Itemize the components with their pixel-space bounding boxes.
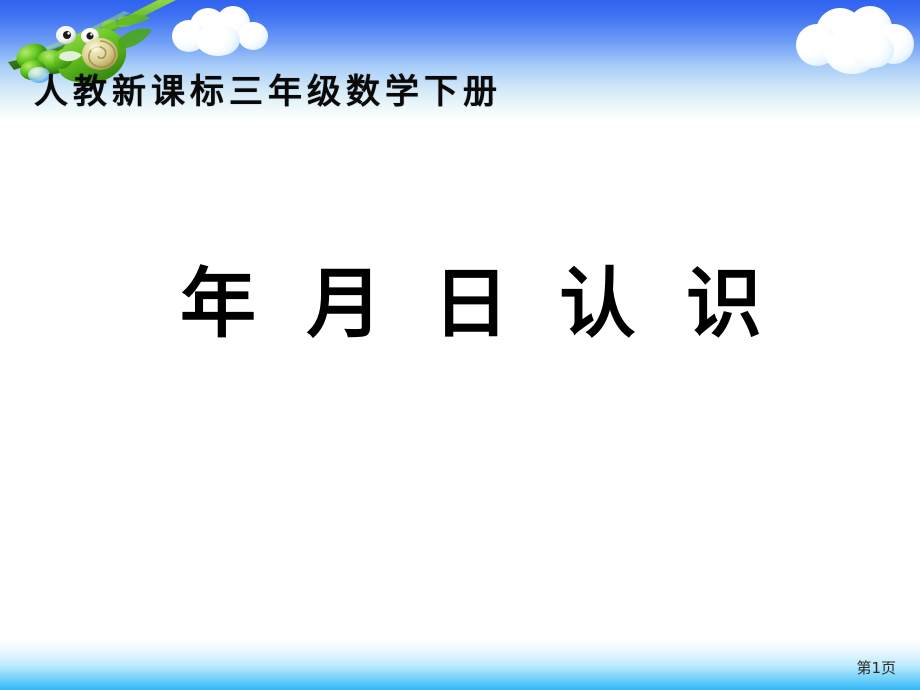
footer-sky-gradient (0, 634, 920, 690)
page-number: 第1页 (856, 657, 896, 678)
snail-pupil (63, 31, 71, 39)
spiral-shell-icon (82, 38, 118, 70)
course-header-title: 人教新课标三年级数学下册 (34, 72, 502, 112)
slide-main-title: 年 月 日 认 识 (180, 258, 774, 350)
snail-pupil (86, 32, 93, 39)
presentation-slide: 人教新课标三年级数学下册 年 月 日 认 识 第1页 (0, 0, 920, 690)
